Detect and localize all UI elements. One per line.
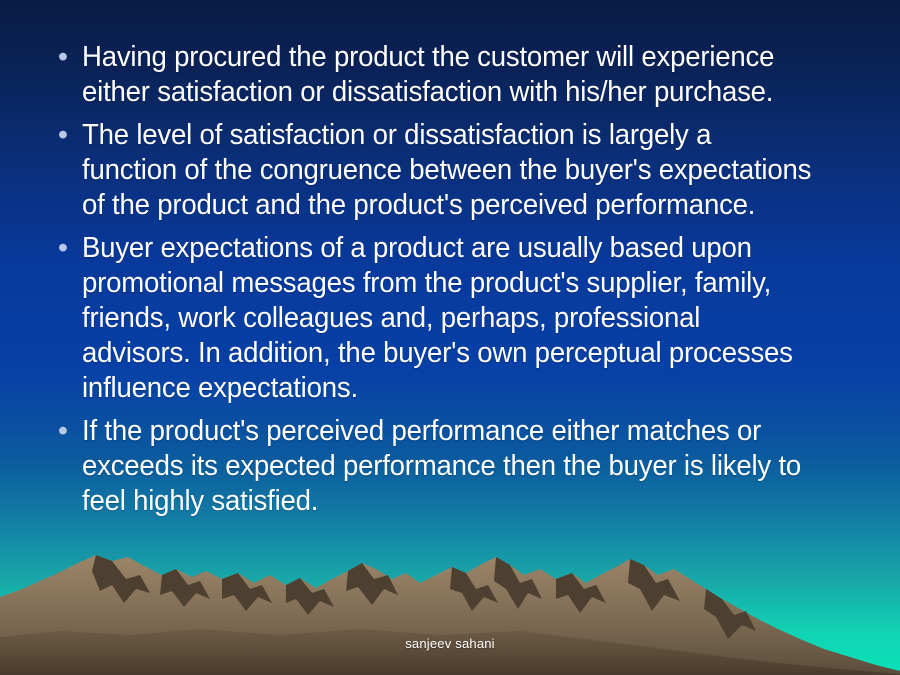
mountain-scenery-illustration (0, 545, 900, 675)
list-item: • The level of satisfaction or dissatisf… (44, 118, 850, 223)
bullet-point-icon: • (44, 118, 82, 153)
bullet-point-icon: • (44, 40, 82, 75)
bullet-text: The level of satisfaction or dissatisfac… (82, 118, 812, 223)
list-item: • Buyer expectations of a product are us… (44, 231, 850, 406)
bullet-point-icon: • (44, 414, 82, 449)
bullet-text: Buyer expectations of a product are usua… (82, 231, 812, 406)
list-item: • Having procured the product the custom… (44, 40, 850, 110)
bullet-point-icon: • (44, 231, 82, 266)
list-item: • If the product's perceived performance… (44, 414, 850, 519)
bullet-text: Having procured the product the customer… (82, 40, 812, 110)
slide-body: • Having procured the product the custom… (0, 0, 900, 519)
presentation-slide: • Having procured the product the custom… (0, 0, 900, 675)
author-credit: sanjeev sahani (0, 636, 900, 652)
bullet-text: If the product's perceived performance e… (82, 414, 812, 519)
